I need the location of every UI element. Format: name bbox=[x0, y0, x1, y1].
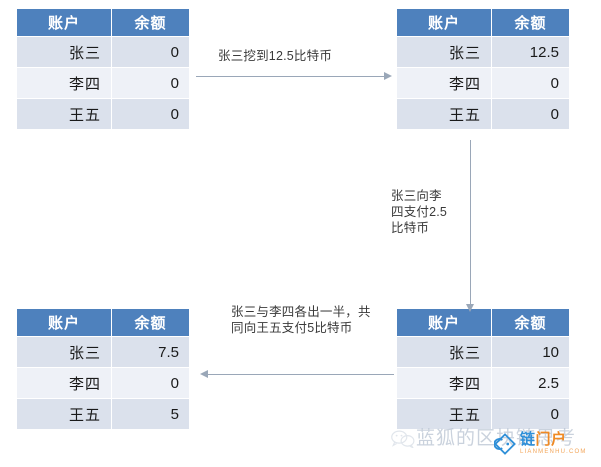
column-header-account: 账户 bbox=[17, 309, 112, 337]
cell-account: 李四 bbox=[17, 368, 112, 399]
cell-balance: 7.5 bbox=[112, 337, 190, 368]
cell-balance: 0 bbox=[112, 99, 190, 130]
table-row: 王五 0 bbox=[397, 99, 570, 130]
cell-balance: 5 bbox=[112, 399, 190, 430]
table-row: 张三 0 bbox=[17, 37, 190, 68]
cell-balance: 12.5 bbox=[492, 37, 570, 68]
cell-account: 李四 bbox=[17, 68, 112, 99]
column-header-balance: 余额 bbox=[112, 309, 190, 337]
cell-account: 李四 bbox=[397, 68, 492, 99]
cell-balance: 2.5 bbox=[492, 368, 570, 399]
final-ledger: 账户 余额 张三 7.5 李四 0 王五 5 bbox=[16, 308, 190, 430]
after-payment-ledger: 账户 余额 张三 10 李四 2.5 王五 0 bbox=[396, 308, 570, 430]
column-header-balance: 余额 bbox=[492, 9, 570, 37]
cell-balance: 0 bbox=[492, 99, 570, 130]
brand-name-part1: 链 bbox=[520, 431, 536, 448]
table-row: 王五 5 bbox=[17, 399, 190, 430]
table-header-row: 账户 余额 bbox=[397, 9, 570, 37]
column-header-account: 账户 bbox=[17, 9, 112, 37]
arrow-split-head-icon bbox=[200, 370, 208, 378]
table-header-row: 账户 余额 bbox=[17, 309, 190, 337]
arrow-pay-line bbox=[470, 140, 471, 304]
diagram-canvas: 账户 余额 张三 0 李四 0 王五 0 账户 余额 bbox=[0, 0, 601, 467]
cell-account: 王五 bbox=[397, 99, 492, 130]
wechat-icon bbox=[391, 430, 415, 448]
cell-balance: 0 bbox=[112, 368, 190, 399]
brand-name: 链门户 bbox=[520, 432, 587, 447]
cell-balance: 0 bbox=[492, 68, 570, 99]
arrow-split-label: 张三与李四各出一半，共同向王五支付5比特币 bbox=[231, 304, 371, 336]
brand-name-part2: 门户 bbox=[536, 431, 567, 448]
column-header-balance: 余额 bbox=[112, 9, 190, 37]
arrow-mine-label: 张三挖到12.5比特币 bbox=[218, 48, 408, 64]
diamond-logo-icon bbox=[494, 433, 516, 455]
cell-account: 张三 bbox=[17, 337, 112, 368]
arrow-mine-line bbox=[196, 76, 384, 77]
cell-account: 张三 bbox=[17, 37, 112, 68]
initial-ledger: 账户 余额 张三 0 李四 0 王五 0 bbox=[16, 8, 190, 130]
table-row: 张三 10 bbox=[397, 337, 570, 368]
table-row: 张三 7.5 bbox=[17, 337, 190, 368]
brand-domain: LIANMENHU.COM bbox=[520, 449, 587, 455]
table-row: 李四 0 bbox=[397, 68, 570, 99]
table-header-row: 账户 余额 bbox=[17, 9, 190, 37]
brand-text-block: 链门户 LIANMENHU.COM bbox=[520, 432, 587, 455]
table-header-row: 账户 余额 bbox=[397, 309, 570, 337]
table-row: 李四 0 bbox=[17, 68, 190, 99]
column-header-account: 账户 bbox=[397, 309, 492, 337]
cell-balance: 10 bbox=[492, 337, 570, 368]
arrow-split-line bbox=[208, 374, 394, 375]
cell-balance: 0 bbox=[112, 68, 190, 99]
brand-logo: 链门户 LIANMENHU.COM bbox=[494, 432, 587, 455]
arrow-mine-head-icon bbox=[384, 72, 392, 80]
table-row: 王五 0 bbox=[17, 99, 190, 130]
column-header-balance: 余额 bbox=[492, 309, 570, 337]
after-mining-ledger: 账户 余额 张三 12.5 李四 0 王五 0 bbox=[396, 8, 570, 130]
table-row: 李四 2.5 bbox=[397, 368, 570, 399]
cell-account: 张三 bbox=[397, 37, 492, 68]
cell-account: 李四 bbox=[397, 368, 492, 399]
arrow-pay-head-icon bbox=[466, 304, 474, 312]
column-header-account: 账户 bbox=[397, 9, 492, 37]
cell-account: 王五 bbox=[17, 99, 112, 130]
table-row: 张三 12.5 bbox=[397, 37, 570, 68]
table-row: 李四 0 bbox=[17, 368, 190, 399]
cell-account: 张三 bbox=[397, 337, 492, 368]
cell-account: 王五 bbox=[17, 399, 112, 430]
arrow-pay-label: 张三向李四支付2.5比特币 bbox=[391, 188, 453, 236]
cell-balance: 0 bbox=[112, 37, 190, 68]
